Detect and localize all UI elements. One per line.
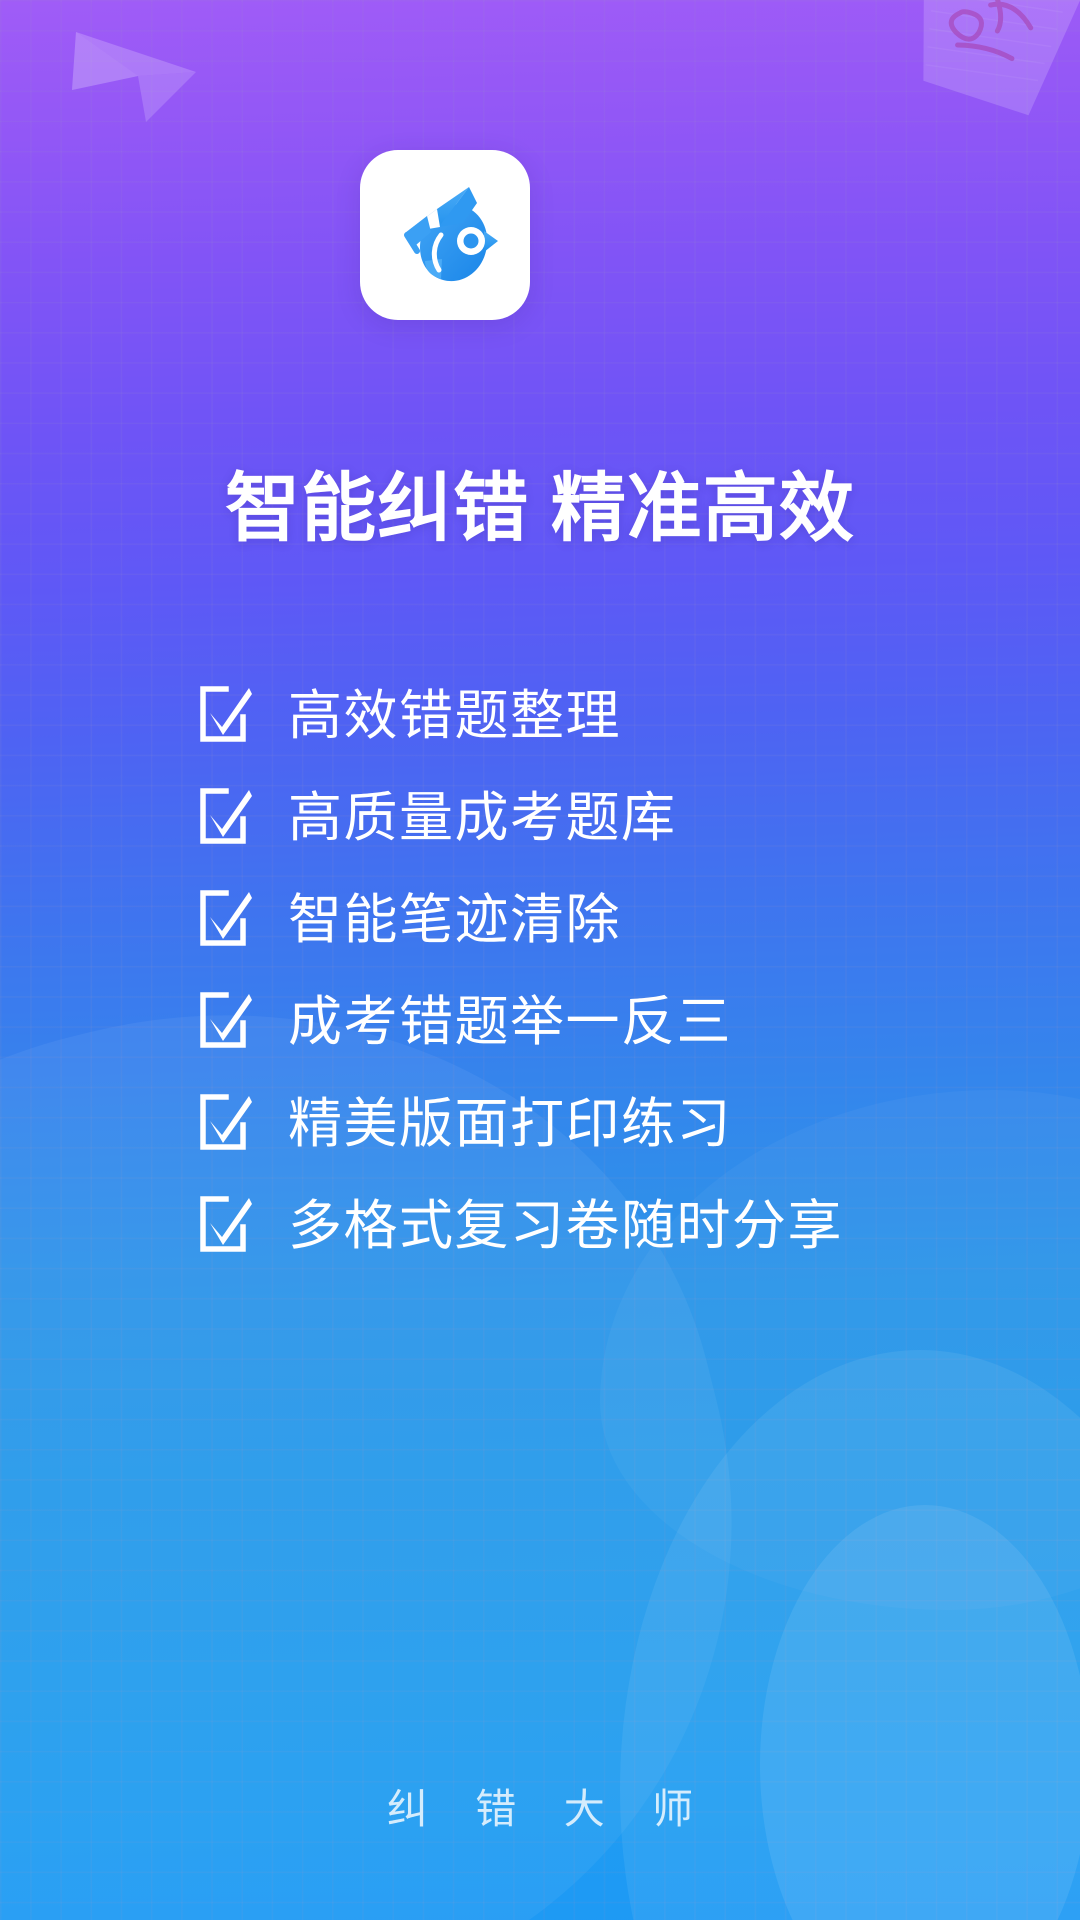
checkbox-checked-icon: [196, 887, 256, 949]
brand-name: 纠 错 大 师: [0, 1775, 1080, 1835]
feature-label: 精美版面打印练习: [288, 1097, 732, 1151]
feature-item-4: 精美版面打印练习: [0, 1073, 1080, 1175]
feature-item-1: 高质量成考题库: [0, 767, 1080, 869]
checkbox-checked-icon: [196, 1091, 256, 1153]
feature-item-5: 多格式复习卷随时分享: [0, 1175, 1080, 1277]
app-icon: [360, 150, 530, 320]
feature-item-2: 智能笔迹清除: [0, 869, 1080, 971]
checkbox-checked-icon: [196, 785, 256, 847]
checkbox-checked-icon: [196, 683, 256, 745]
decor-blob-right-inner: [760, 1505, 1080, 1920]
feature-label: 多格式复习卷随时分享: [288, 1199, 843, 1253]
feature-label: 高质量成考题库: [288, 791, 677, 845]
marked-exam-paper-icon: [890, 0, 1080, 136]
splash-screen: 智能纠错 精准高效 高效错题整理 高质量成考题库: [0, 0, 1080, 1920]
feature-item-0: 高效错题整理: [0, 665, 1080, 767]
feature-label: 智能笔迹清除: [288, 893, 621, 947]
paper-plane-icon: [46, 14, 196, 126]
feature-item-3: 成考错题举一反三: [0, 971, 1080, 1073]
checkbox-checked-icon: [196, 989, 256, 1051]
feature-label: 成考错题举一反三: [288, 995, 732, 1049]
checkbox-checked-icon: [196, 1193, 256, 1255]
feature-list: 高效错题整理 高质量成考题库 智能笔迹清除: [0, 665, 1080, 1277]
page-title: 智能纠错 精准高效: [0, 466, 1080, 550]
feature-label: 高效错题整理: [288, 689, 621, 743]
